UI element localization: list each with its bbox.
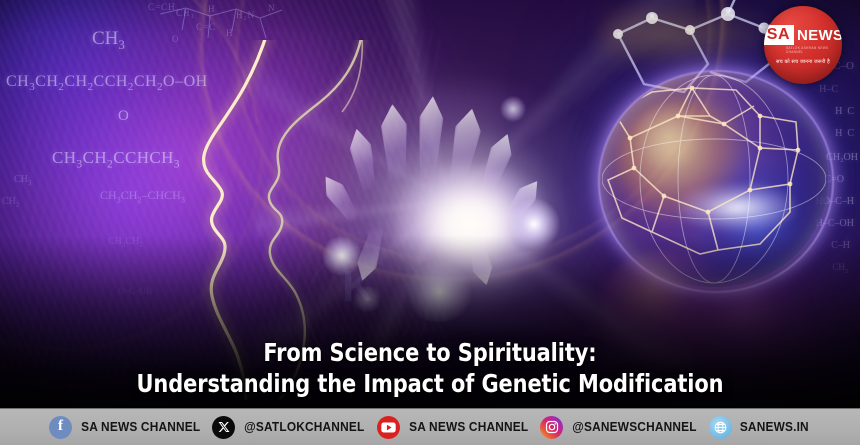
social-label-x: @SATLOKCHANNEL <box>245 420 365 434</box>
headline: From Science to Spirituality: Understand… <box>0 337 860 399</box>
social-item-x[interactable]: @SATLOKCHANNEL <box>212 416 368 439</box>
social-item-instagram[interactable]: @SANEWSCHANNEL <box>540 416 700 439</box>
headline-line-1: From Science to Spirituality: <box>49 337 812 368</box>
youtube-icon[interactable] <box>377 416 400 439</box>
website-globe-icon[interactable] <box>709 416 732 439</box>
social-label-website: SANEWS.IN <box>740 420 809 434</box>
social-label-facebook: SA NEWS CHANNEL <box>81 420 200 434</box>
social-label-youtube: SA NEWS CHANNEL <box>409 420 528 434</box>
social-label-instagram: @SANEWSCHANNEL <box>573 420 697 434</box>
logo-news-word: NEWS <box>797 28 842 43</box>
logo-sa-mark: SA <box>764 25 794 45</box>
news-banner: C=CH CH₃ H H₂N N C=C H O CH3 CH3CH2CH2CC… <box>0 0 860 445</box>
social-footer-bar: f SA NEWS CHANNEL @SATLOKCHANNEL SA NEWS… <box>0 408 860 445</box>
social-item-facebook[interactable]: f SA NEWS CHANNEL <box>49 416 203 439</box>
instagram-icon[interactable] <box>540 416 563 439</box>
logo-wordmark: SA NEWS <box>764 25 842 45</box>
x-twitter-icon[interactable] <box>212 416 235 439</box>
facebook-icon[interactable]: f <box>49 416 72 439</box>
social-item-youtube[interactable]: SA NEWS CHANNEL <box>377 416 531 439</box>
logo-tagline-en: SATLOK ASHRAM NEWS CHANNEL <box>786 46 842 54</box>
logo-tagline-hindi: सच को सच जानना जरूरी है <box>776 59 830 65</box>
social-item-website[interactable]: SANEWS.IN <box>709 416 811 439</box>
sa-news-logo[interactable]: SA NEWS SATLOK ASHRAM NEWS CHANNEL सच को… <box>764 6 842 84</box>
headline-line-2: Understanding the Impact of Genetic Modi… <box>49 368 812 399</box>
